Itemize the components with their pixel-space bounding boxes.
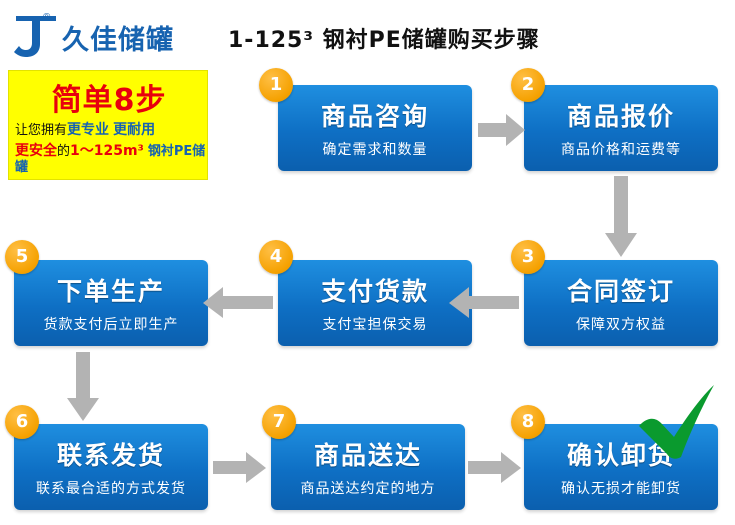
promo-box: 简单8步 让您拥有更专业 更耐用 更安全的1～125m³ 钢衬PE储罐 xyxy=(8,70,208,180)
step-6-title: 联系发货 xyxy=(14,436,208,472)
arrow-step2-to-step3 xyxy=(604,176,638,258)
promo-headline-number: 8 xyxy=(114,83,136,118)
arrow-step3-to-step4 xyxy=(449,287,519,319)
step-5-subtitle: 货款支付后立即生产 xyxy=(14,314,208,334)
step-5-badge: 5 xyxy=(5,240,39,274)
promo-line2-prefix: 让您拥有 xyxy=(15,123,67,138)
step-4-subtitle: 支付宝担保交易 xyxy=(278,314,472,334)
step-2-badge: 2 xyxy=(511,68,545,102)
step-1-title: 商品咨询 xyxy=(278,97,472,133)
step-7-title: 商品送达 xyxy=(271,436,465,472)
page-title: 1-125³ 钢衬PE储罐购买步骤 xyxy=(228,22,540,54)
promo-line2-bold-2: 更耐用 xyxy=(113,122,155,138)
step-card-7: 商品送达 商品送达约定的地方 xyxy=(271,424,465,510)
step-6-subtitle: 联系最合适的方式发货 xyxy=(14,478,208,498)
arrow-step1-to-step2 xyxy=(478,113,526,147)
diagram-canvas: ® 久佳储罐 简单8步 让您拥有更专业 更耐用 更安全的1～125m³ 钢衬PE… xyxy=(0,0,735,525)
step-4-badge: 4 xyxy=(259,240,293,274)
promo-line3-plain: 的 xyxy=(57,144,70,159)
step-7-subtitle: 商品送达约定的地方 xyxy=(271,478,465,498)
letter-j-monogram-icon xyxy=(10,14,62,60)
step-card-5: 下单生产 货款支付后立即生产 xyxy=(14,260,208,346)
registered-mark: ® xyxy=(43,12,50,23)
step-3-badge: 3 xyxy=(511,240,545,274)
brand-name: 久佳储罐 xyxy=(62,18,174,57)
step-6-badge: 6 xyxy=(5,405,39,439)
arrow-step6-to-step7 xyxy=(213,452,267,484)
step-3-title: 合同签订 xyxy=(524,272,718,308)
arrow-step4-to-step5 xyxy=(203,287,273,319)
arrow-step5-to-step6 xyxy=(66,352,100,422)
step-card-2: 商品报价 商品价格和运费等 xyxy=(524,85,718,171)
promo-headline-text: 简单 xyxy=(52,83,114,118)
step-4-title: 支付货款 xyxy=(278,272,472,308)
step-card-6: 联系发货 联系最合适的方式发货 xyxy=(14,424,208,510)
step-3-subtitle: 保障双方权益 xyxy=(524,314,718,334)
step-2-subtitle: 商品价格和运费等 xyxy=(524,139,718,159)
green-check-icon xyxy=(636,382,718,462)
promo-line3-red-1: 更安全 xyxy=(15,143,57,159)
arrow-step7-to-step8 xyxy=(468,452,522,484)
step-card-1: 商品咨询 确定需求和数量 xyxy=(278,85,472,171)
promo-headline-suffix: 步 xyxy=(135,83,166,118)
promo-line2-bold-1: 更专业 xyxy=(67,122,109,138)
step-7-badge: 7 xyxy=(262,405,296,439)
promo-headline: 简单8步 xyxy=(9,75,209,119)
step-card-4: 支付货款 支付宝担保交易 xyxy=(278,260,472,346)
step-card-3: 合同签订 保障双方权益 xyxy=(524,260,718,346)
promo-line3-red-2: 1～125m³ xyxy=(70,143,144,159)
step-5-title: 下单生产 xyxy=(14,272,208,308)
brand-logo: ® 久佳储罐 xyxy=(10,14,220,62)
promo-line-2: 让您拥有更专业 更耐用 xyxy=(15,119,205,139)
step-2-title: 商品报价 xyxy=(524,97,718,133)
step-1-subtitle: 确定需求和数量 xyxy=(278,139,472,159)
step-1-badge: 1 xyxy=(259,68,293,102)
step-8-subtitle: 确认无损才能卸货 xyxy=(524,478,718,498)
step-8-badge: 8 xyxy=(511,405,545,439)
promo-line-3: 更安全的1～125m³ 钢衬PE储罐 xyxy=(15,143,207,176)
